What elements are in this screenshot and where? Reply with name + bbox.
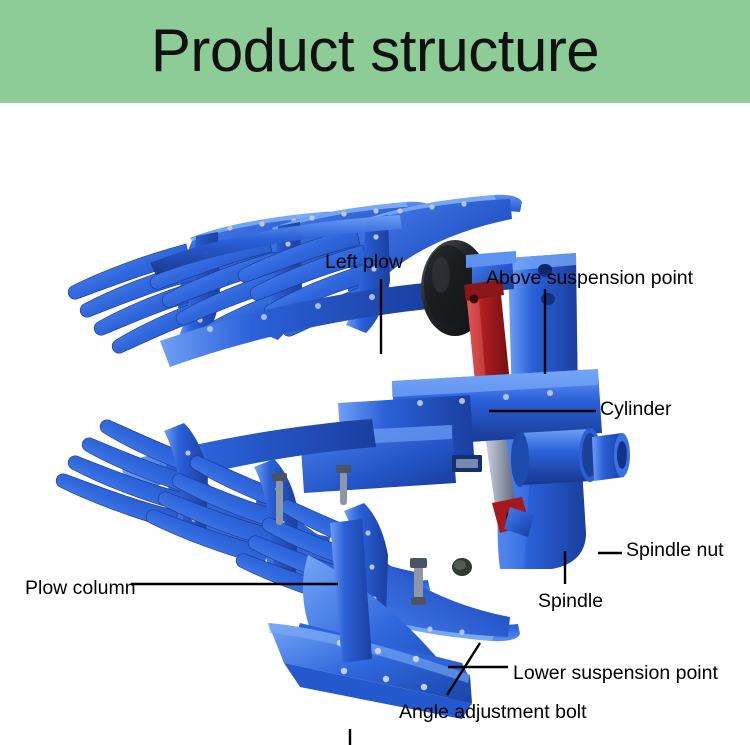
page-title: Product structure xyxy=(0,14,750,88)
callout-label-angle-adjustment-bolt: Angle adjustment bolt xyxy=(399,701,587,724)
callout-label-above-suspension-point: Above suspension point xyxy=(486,267,693,290)
product-structure-infographic: Product structure xyxy=(0,0,750,745)
title-banner: Product structure xyxy=(0,0,750,103)
illustration-stage: 机械 xyxy=(0,103,750,745)
lower-suspension-point-part xyxy=(452,558,472,576)
callout-label-plow-column: Plow column xyxy=(25,577,136,600)
callout-label-lower-suspension-point: Lower suspension point xyxy=(513,662,718,685)
spindle-assembly xyxy=(511,428,630,487)
callout-label-spindle-nut: Spindle nut xyxy=(626,539,724,562)
callout-label-spindle: Spindle xyxy=(538,590,603,613)
callout-label-left-plow: Left plow xyxy=(325,251,403,274)
plow-illustration: 机械 xyxy=(0,103,750,745)
callout-label-cylinder: Cylinder xyxy=(600,398,672,421)
